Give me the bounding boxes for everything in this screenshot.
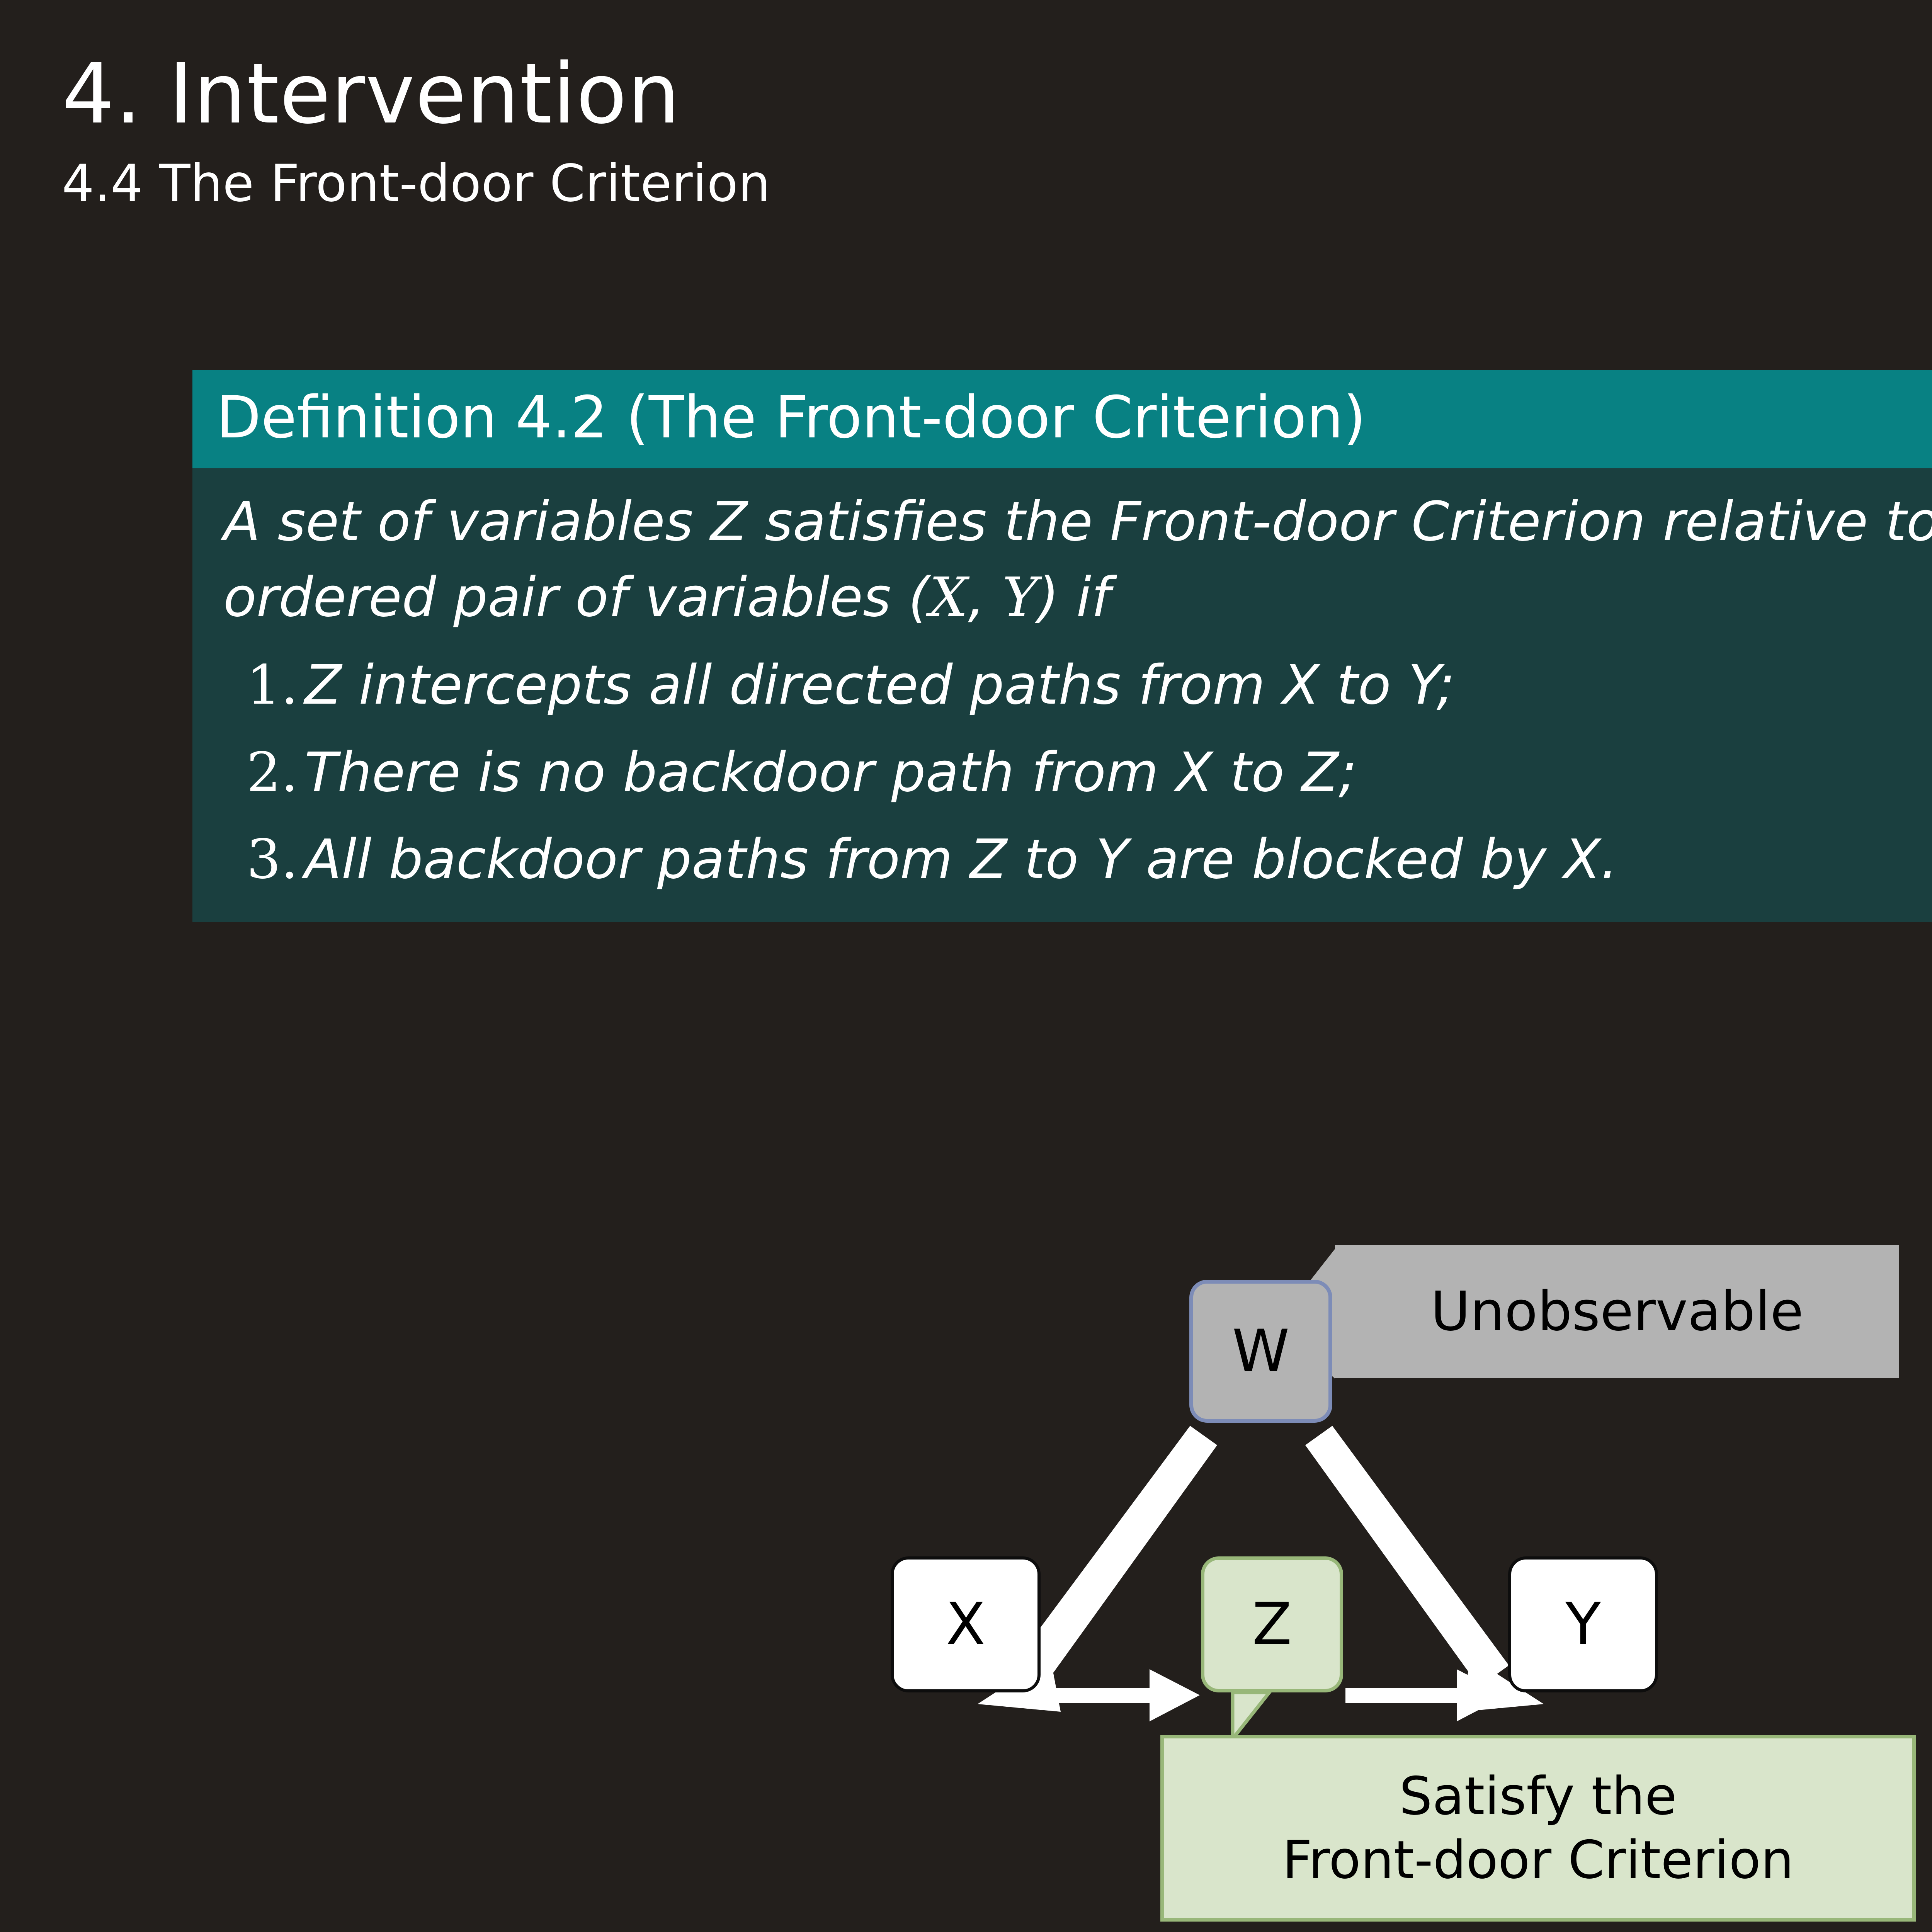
edge-x-to-z-icon xyxy=(1043,1669,1200,1721)
list-item-text: All backdoor paths from Z to Y are block… xyxy=(304,828,1618,891)
definition-paragraph-line2: ordered pair of variables (X, Y) if xyxy=(223,562,1932,634)
node-x[interactable]: X xyxy=(891,1556,1041,1692)
callout-pointer-satisfy-icon xyxy=(1233,1692,1269,1739)
node-w-label: W xyxy=(1232,1322,1289,1380)
definition-header: Definition 4.2 (The Front-door Criterion… xyxy=(192,370,1932,468)
page-title: 4. Intervention xyxy=(62,50,1932,138)
callout-unobservable-text: Unobservable xyxy=(1431,1285,1804,1339)
def-line2-pre: ordered pair of variables ( xyxy=(223,566,929,629)
slide-header: 4. Intervention 4.4 The Front-door Crite… xyxy=(62,50,1932,213)
list-item: 3. All backdoor paths from Z to Y are bl… xyxy=(223,825,1932,894)
definition-paragraph-line1: A set of variables Z satisfies the Front… xyxy=(223,486,1932,558)
node-y-label: Y xyxy=(1565,1595,1601,1653)
callout-satisfy-line1: Satisfy the xyxy=(1399,1765,1677,1828)
list-item-text: There is no backdoor path from X to Z; xyxy=(304,741,1357,804)
list-item: 2. There is no backdoor path from X to Z… xyxy=(223,738,1932,807)
list-item-number: 1. xyxy=(247,651,298,720)
node-z[interactable]: Z xyxy=(1201,1556,1343,1692)
list-item-number: 3. xyxy=(247,825,298,894)
definition-criteria-list: 1. Z intercepts all directed paths from … xyxy=(223,651,1932,894)
list-item-number: 2. xyxy=(247,738,298,807)
definition-body: A set of variables Z satisfies the Front… xyxy=(192,468,1932,922)
page-subtitle: 4.4 The Front-door Criterion xyxy=(62,154,1932,213)
node-x-label: X xyxy=(946,1595,986,1653)
list-item-text: Z intercepts all directed paths from X t… xyxy=(304,654,1455,717)
slide-root: 4. Intervention 4.4 The Front-door Crite… xyxy=(0,0,1932,1932)
def-line2-x: X xyxy=(929,566,968,629)
callout-satisfy-line2: Front-door Criterion xyxy=(1282,1828,1794,1892)
list-item: 1. Z intercepts all directed paths from … xyxy=(223,651,1932,720)
def-line2-post: ) if xyxy=(1038,566,1110,629)
def-line2-y: Y xyxy=(1002,566,1038,629)
node-y[interactable]: Y xyxy=(1508,1556,1658,1692)
callout-unobservable: Unobservable xyxy=(1335,1245,1899,1378)
def-line2-comma: , xyxy=(968,566,1002,629)
node-w[interactable]: W xyxy=(1189,1280,1332,1423)
callout-satisfy: Satisfy the Front-door Criterion xyxy=(1160,1735,1916,1922)
node-z-label: Z xyxy=(1252,1595,1292,1653)
definition-block: Definition 4.2 (The Front-door Criterion… xyxy=(192,370,1932,922)
